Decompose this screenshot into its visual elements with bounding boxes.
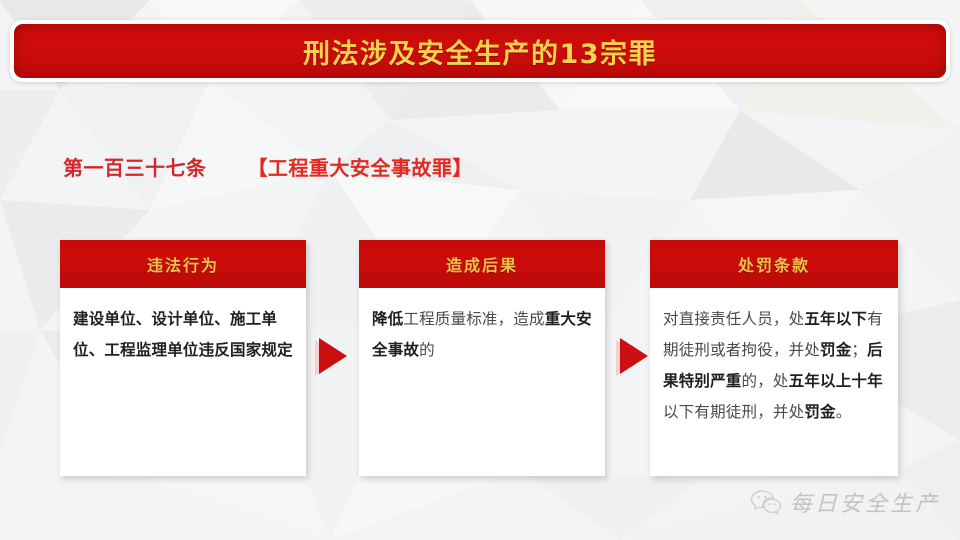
card-consequence: 造成后果 降低工程质量标准，造成重大安全事故的 (359, 240, 605, 476)
watermark: 每日安全生产 (751, 486, 940, 518)
card-header-label: 处罚条款 (738, 252, 810, 276)
article-subtitle: 第一百三十七条 【工程重大安全事故罪】 (63, 152, 473, 181)
card-header: 处罚条款 (650, 240, 898, 288)
card-body-text: 对直接责任人员，处五年以下有期徒刑或者拘役，并处罚金；后果特别严重的，处五年以上… (650, 288, 898, 440)
card-header: 违法行为 (60, 240, 306, 288)
slide-title-banner: 刑法涉及安全生产的13宗罪 (10, 20, 950, 82)
card-body-text: 降低工程质量标准，造成重大安全事故的 (359, 288, 605, 378)
card-penalty-clause: 处罚条款 对直接责任人员，处五年以下有期徒刑或者拘役，并处罚金；后果特别严重的，… (650, 240, 898, 476)
crime-name: 【工程重大安全事故罪】 (247, 156, 473, 180)
page-title: 刑法涉及安全生产的13宗罪 (303, 32, 657, 71)
slide-title-bar: 刑法涉及安全生产的13宗罪 (14, 24, 946, 78)
wechat-icon (751, 490, 781, 515)
card-header: 造成后果 (359, 240, 605, 288)
arrow-right-icon (313, 336, 349, 378)
card-header-label: 造成后果 (446, 252, 518, 276)
card-body-text: 建设单位、设计单位、施工单位、工程监理单位违反国家规定 (60, 288, 306, 378)
card-illegal-conduct: 违法行为 建设单位、设计单位、施工单位、工程监理单位违反国家规定 (60, 240, 306, 476)
card-header-label: 违法行为 (147, 252, 219, 276)
arrow-right-icon (614, 336, 650, 378)
article-number: 第一百三十七条 (63, 156, 207, 180)
watermark-label: 每日安全生产 (790, 486, 940, 518)
